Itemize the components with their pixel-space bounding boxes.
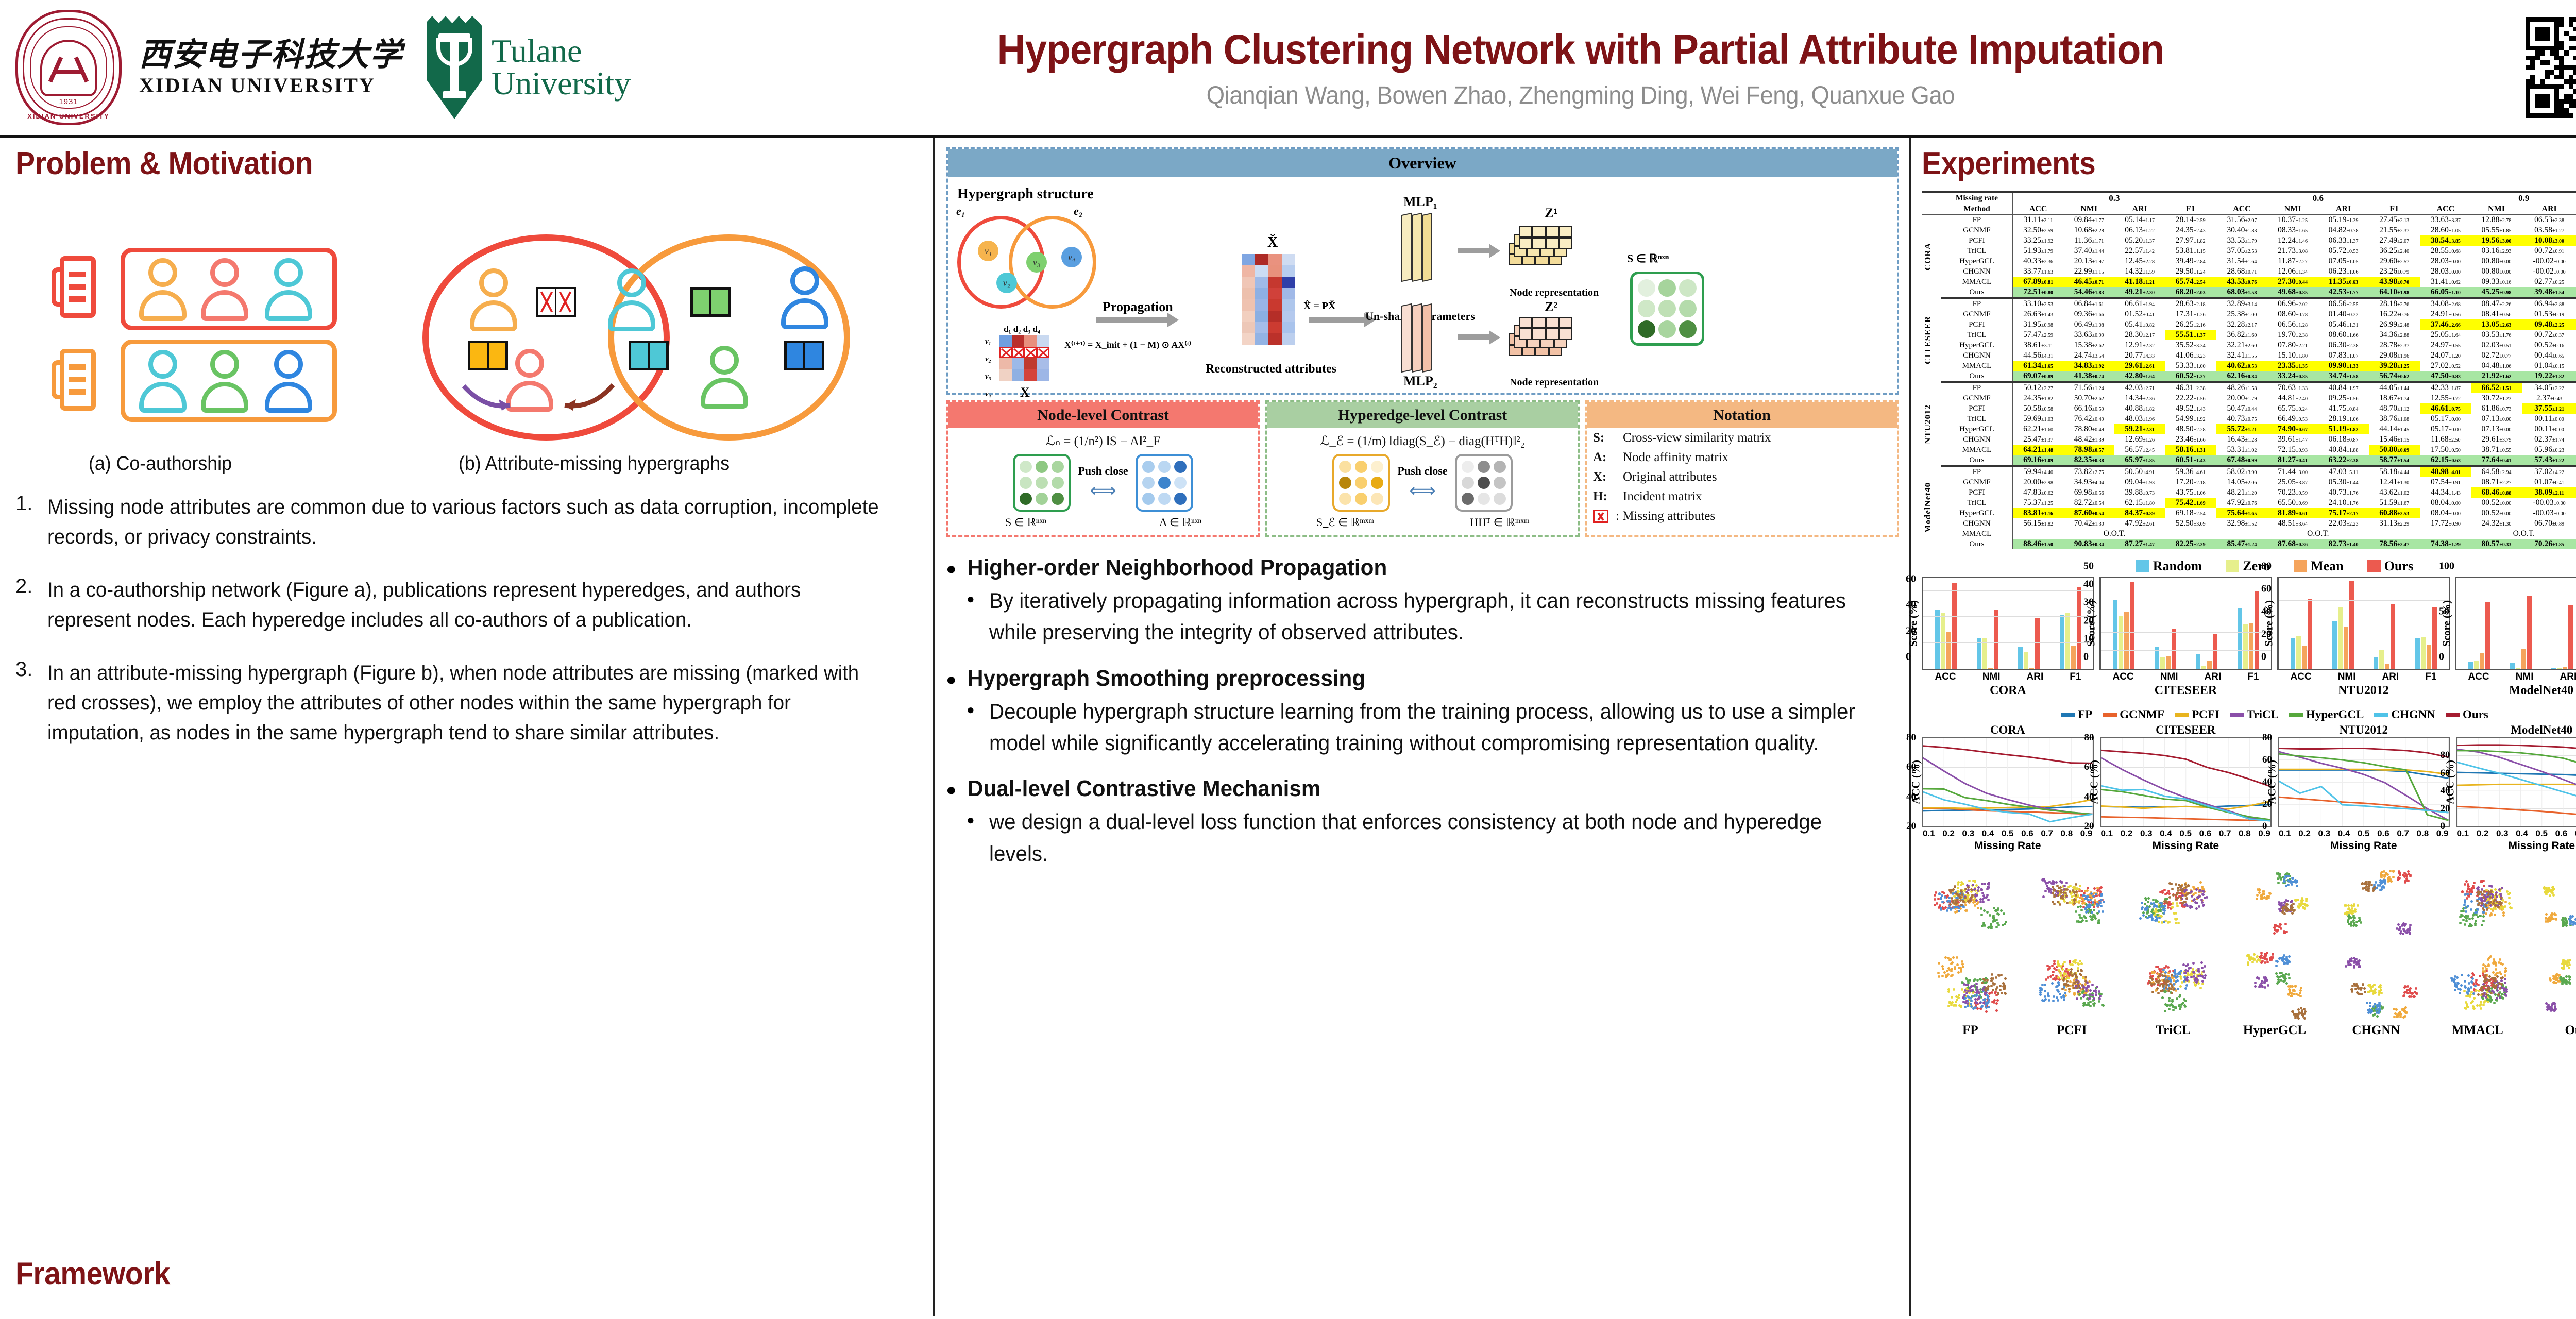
heatmap-cell — [1282, 288, 1295, 299]
tsne-point — [2144, 907, 2147, 910]
tsne-point — [2099, 995, 2102, 997]
metric-cell: 59.69±1.03 — [2012, 414, 2063, 424]
tsne-point — [2361, 993, 2363, 995]
motivation-item-text: Missing node attributes are common due t… — [47, 492, 880, 552]
tsne-point — [2396, 927, 2398, 930]
tsne-point — [1938, 975, 1940, 978]
tsne-point — [2277, 872, 2280, 875]
tsne-point — [2161, 996, 2164, 999]
metric-mean: 46.31 — [2176, 383, 2194, 392]
metric-mean: 81.89 — [2278, 509, 2296, 517]
tsne-point — [2059, 903, 2061, 906]
tsne-point — [2184, 894, 2187, 897]
tsne-point — [2299, 992, 2301, 994]
metric-std: ±2.54 — [2194, 511, 2206, 517]
metric-mean: 82.25 — [2176, 539, 2194, 548]
heatmap-cell — [1255, 265, 1268, 277]
tsne-point — [2198, 905, 2200, 908]
metric-std: ±3.37 — [2449, 218, 2461, 224]
metric-cell: 27.45±2.13 — [2369, 215, 2420, 226]
x-tick-label: 0.6 — [2199, 828, 2212, 839]
metric-std: ±0.52 — [2449, 364, 2461, 369]
overview-panel: Overview Hypergraph structure e₁ e₂ v₁ v… — [946, 147, 1899, 395]
tsne-point — [2545, 913, 2548, 916]
metric-cell: 60.88±2.53 — [2369, 508, 2420, 518]
metric-mean: 17.31 — [2176, 310, 2194, 318]
bar — [2516, 668, 2520, 669]
heatmap-cell — [1268, 299, 1282, 311]
tsne-point — [2465, 910, 2467, 913]
tulane-name-line1: Tulane — [492, 35, 631, 67]
heatmap-cell — [1242, 265, 1255, 277]
tsne-point — [2167, 921, 2170, 924]
metric-mean: 63.22 — [2329, 455, 2347, 464]
metric-std: ±2.71 — [2143, 386, 2155, 392]
person-icon — [469, 268, 518, 331]
metric-mean: 12.88 — [2482, 215, 2500, 224]
person-icon — [700, 346, 749, 409]
metric-cell: 08.04±0.00 — [2420, 498, 2471, 508]
tsne-point — [1996, 999, 1999, 1002]
metric-mean: 19.70 — [2278, 330, 2296, 339]
tsne-point — [2067, 977, 2070, 979]
tsne-point — [2499, 958, 2501, 961]
metric-std: ±1.83 — [2245, 228, 2257, 234]
metric-mean: 33.77 — [2023, 267, 2041, 276]
metric-std: ±1.43 — [2194, 407, 2206, 412]
tsne-point — [2467, 974, 2470, 977]
metric-std: ±0.56 — [2449, 312, 2461, 318]
matrix-cell — [1371, 461, 1383, 473]
z1-label: Z¹ — [1545, 206, 1557, 221]
tsne-point — [2141, 902, 2143, 904]
tsne-point — [2261, 960, 2264, 962]
metric-cell: 39.28±1.25 — [2369, 361, 2420, 371]
metric-cell: 25.05±1.64 — [2420, 330, 2471, 340]
metric-cell: 59.21±2.31 — [2114, 424, 2165, 434]
tsne-point — [2490, 992, 2493, 994]
heatmap-cell — [1268, 265, 1282, 277]
tsne-point — [2278, 980, 2280, 983]
matrix-cell — [1020, 461, 1032, 473]
metric-cell: 08.60±0.78 — [2267, 309, 2318, 319]
table-row: CHGNN44.56±4.3124.74±3.5420.77±4.3341.06… — [1922, 350, 2576, 361]
metric-std: ±3.79 — [2499, 437, 2511, 443]
metric-std: ±2.11 — [2552, 491, 2564, 496]
tsne-point — [2202, 904, 2205, 907]
tsne-point — [2472, 974, 2475, 976]
table-row: Ours69.07±0.8941.38±0.7442.80±1.6460.52±… — [1922, 371, 2576, 382]
tsne-point — [1961, 988, 1963, 991]
motivation-item-number: 2. — [15, 575, 47, 635]
metric-mean: 28.30 — [2125, 330, 2143, 339]
metric-mean: 48.42 — [2074, 435, 2092, 444]
metric-std: ±0.41 — [2552, 480, 2564, 486]
tsne-point — [1987, 988, 1989, 990]
metric-mean: 58.02 — [2227, 467, 2245, 476]
tsne-point — [2381, 871, 2383, 873]
metric-std: ±0.99 — [2245, 458, 2257, 464]
metric-cell: 48.98±4.01 — [2420, 466, 2471, 478]
metric-std: ±3.14 — [2245, 302, 2257, 308]
tsne-point — [2086, 986, 2089, 989]
xidian-chinese-name: 西安电子科技大学 — [139, 38, 403, 71]
propagation-arrow-icon — [1096, 317, 1168, 323]
metric-cell: 45.25±0.98 — [2471, 287, 2521, 298]
tsne-point — [2079, 885, 2081, 887]
tsne-point — [2498, 982, 2501, 985]
z2-label: Z² — [1545, 299, 1557, 315]
tsne-point — [2500, 979, 2503, 982]
tsne-point — [2258, 891, 2261, 894]
tsne-point — [1946, 909, 1948, 912]
metric-mean: 08.41 — [2482, 310, 2500, 318]
metric-cell: 05.14±1.17 — [2114, 215, 2165, 226]
notation-list: S:Cross-view similarity matrixA:Node aff… — [1587, 428, 1897, 526]
tsne-point — [2472, 887, 2475, 889]
tsne-point — [2093, 906, 2095, 908]
tsne-point — [2076, 997, 2078, 1000]
metric-std: ±4.01 — [2449, 470, 2461, 476]
oot-cell: O.O.T. — [2012, 529, 2216, 539]
to-mlp-arrow-icon — [1309, 317, 1365, 323]
metric-mean: 49.21 — [2125, 288, 2143, 296]
contribution-detail-row: ●we design a dual-level loss function th… — [967, 806, 1899, 869]
metric-cell: -00.02±0.00 — [2522, 266, 2576, 277]
tsne-point — [2569, 915, 2572, 918]
page-title: Hypergraph Clustering Network with Parti… — [702, 26, 2460, 74]
tsne-point — [2464, 893, 2466, 896]
metric-std: ±0.84 — [2346, 407, 2358, 412]
tsne-point — [1948, 959, 1951, 961]
tsne-point — [1981, 883, 1984, 885]
metric-mean: 29.61 — [2482, 435, 2500, 444]
metric-mean: 20.00 — [2023, 478, 2041, 486]
attribute-card-green — [690, 287, 731, 317]
metric-cell: 09.48±2.25 — [2522, 319, 2576, 330]
metric-cell: 09.33±0.16 — [2471, 277, 2521, 287]
tsne-point — [2405, 877, 2408, 880]
tsne-point — [2380, 992, 2383, 994]
tsne-point — [2165, 965, 2167, 968]
legend-item: TriCL — [2230, 708, 2279, 721]
metric-std: ±1.44 — [2346, 480, 2358, 486]
legend-swatch — [2103, 713, 2117, 717]
tsne-point — [2350, 917, 2352, 919]
metric-mean: 09.25 — [2329, 394, 2347, 402]
original-attribute-matrix — [999, 335, 1049, 381]
tsne-point — [1967, 1002, 1969, 1005]
xidian-seal-arc-text: XIDIAN UNIVERSITY — [9, 112, 128, 120]
node-representation-label-1: Node representation — [1510, 287, 1599, 299]
metric-mean: 65.97 — [2125, 455, 2143, 464]
method-name-cell: CHGNN — [1941, 434, 2012, 445]
metric-mean: 38.71 — [2482, 445, 2500, 454]
heatmap-cell — [1282, 277, 1295, 288]
tsne-point — [2077, 963, 2080, 966]
metric-mean: 24.32 — [2482, 519, 2500, 528]
tsne-point — [1944, 956, 1947, 959]
metric-mean: 40.88 — [2125, 404, 2143, 413]
tsne-point — [2380, 989, 2382, 991]
tsne-point — [2293, 881, 2295, 883]
metric-std: ±0.78 — [2346, 228, 2358, 234]
tsne-point — [2462, 919, 2465, 921]
dataset-group-cell: NTU2012 — [1922, 382, 1941, 466]
metric-cell: 06.23±1.06 — [2318, 266, 2368, 277]
z1-node-representation — [1509, 226, 1586, 283]
metric-cell: 06.84±1.61 — [2063, 298, 2114, 310]
legend-swatch — [2175, 713, 2189, 717]
tsne-point — [2489, 914, 2492, 917]
metric-std: ±1.82 — [2041, 521, 2053, 527]
tsne-point — [2565, 975, 2568, 978]
metric-cell: 41.06±3.23 — [2165, 350, 2216, 361]
metric-cell: 24.97±0.55 — [2420, 340, 2471, 350]
column-problem-motivation: Problem & Motivation — [0, 138, 933, 1316]
metric-mean: 11.68 — [2431, 435, 2448, 444]
metric-mean: 24.74 — [2074, 351, 2092, 360]
metric-mean: 70.26 — [2534, 539, 2552, 548]
tsne-point — [1947, 973, 1950, 976]
tsne-point — [2158, 921, 2160, 923]
tsne-point — [1972, 985, 1975, 987]
metric-mean: 70.23 — [2278, 488, 2296, 497]
metric-cell: 29.61±2.61 — [2114, 361, 2165, 371]
tsne-point — [1970, 888, 1973, 891]
tsne-point — [2464, 907, 2466, 909]
y-axis-label: ACC (%) — [2265, 760, 2278, 804]
qr-code-icon[interactable] — [2526, 17, 2576, 118]
tsne-point — [2058, 984, 2060, 986]
tsne-point — [2283, 975, 2286, 977]
metric-cell: 82.72±0.54 — [2063, 498, 2114, 508]
metric-mean: 72.51 — [2023, 288, 2041, 296]
tsne-point — [2508, 902, 2511, 905]
metric-std: ±0.89 — [2041, 374, 2053, 380]
metric-cell: 02.03±0.51 — [2471, 340, 2521, 350]
tsne-point — [2168, 1008, 2171, 1010]
heatmap-cell — [1255, 322, 1268, 333]
tsne-point — [2077, 888, 2079, 890]
metric-mean: 38.54 — [2431, 236, 2449, 245]
tsne-point — [2477, 886, 2480, 889]
metric-std: ±1.21 — [2245, 427, 2257, 433]
metric-mean: 37.40 — [2074, 246, 2092, 255]
metric-cell: 06.70±0.89 — [2522, 518, 2576, 529]
metric-mean: 05.96 — [2534, 445, 2552, 454]
metric-mean: 65.50 — [2278, 498, 2296, 507]
legend-swatch — [2374, 713, 2388, 717]
metric-mean: 50.47 — [2227, 404, 2245, 413]
tsne-visualization: FPPCFITriCLHyperGCLCHGNNMMACLOurs — [1922, 864, 2576, 1038]
metric-mean: 00.11 — [2534, 414, 2552, 423]
metric-cell: 00.72±0.91 — [2522, 246, 2576, 256]
y-tick-label: 0 — [2261, 651, 2448, 663]
metric-mean: 31.56 — [2227, 215, 2245, 224]
tsne-method-labels: FPPCFITriCLHyperGCLCHGNNMMACLOurs — [1922, 1023, 2576, 1038]
metric-std: ±2.94 — [2499, 470, 2511, 476]
metric-cell: 06.56±2.55 — [2318, 298, 2368, 310]
metric-mean: 90.83 — [2074, 539, 2092, 548]
x-tick-label: F1 — [2247, 671, 2259, 683]
notation-row: S:Cross-view similarity matrix — [1587, 428, 1897, 448]
metric-std: ±1.31 — [2346, 323, 2358, 328]
tsne-point — [2057, 976, 2060, 979]
tsne-point — [2288, 961, 2291, 963]
metric-std: ±0.16 — [2552, 343, 2564, 349]
tsne-point — [1944, 906, 1947, 909]
tsne-point — [2163, 889, 2166, 891]
tsne-point — [2296, 885, 2298, 887]
tsne-point — [1951, 996, 1953, 999]
tsne-point — [1935, 891, 1937, 894]
metric-std: ±2.84 — [2194, 259, 2206, 265]
tsne-point — [2186, 976, 2189, 979]
metric-std: ±2.48 — [2397, 323, 2409, 328]
tsne-point — [2080, 962, 2083, 965]
heatmap-cell — [999, 347, 1012, 358]
metric-mean: 49.52 — [2176, 404, 2194, 413]
tsne-point — [1947, 990, 1950, 993]
metric-mean: 48.50 — [2176, 425, 2194, 433]
tsne-point — [1976, 1002, 1978, 1004]
metric-std: ±1.60 — [2245, 333, 2257, 339]
bar-chart: 050100Score (%)ACCNMIARIF1ModelNet40 — [2455, 577, 2576, 698]
tsne-point — [1953, 1004, 1955, 1007]
tsne-point — [2047, 995, 2050, 997]
notation-description: Cross-view similarity matrix — [1623, 431, 1771, 445]
chart-title: CITESEER — [2100, 723, 2272, 737]
tsne-point — [1960, 904, 1963, 906]
matrix-cell — [1158, 493, 1171, 505]
metric-mean: 82.73 — [2329, 539, 2347, 548]
metric-std: ±3.11 — [2041, 343, 2053, 349]
bar — [1988, 668, 1993, 669]
metric-mean: 32.50 — [2023, 226, 2041, 234]
metric-mean: 12.41 — [2379, 478, 2397, 486]
metric-cell: 53.81±1.15 — [2165, 246, 2216, 256]
matrix-cell — [1494, 493, 1506, 505]
tsne-point — [2073, 960, 2076, 962]
tsne-point — [1953, 988, 1955, 991]
tsne-point — [2102, 910, 2104, 913]
tsne-point — [2047, 976, 2049, 979]
metric-cell: 87.68±0.36 — [2267, 539, 2318, 549]
metric-mean: 75.42 — [2176, 498, 2194, 507]
metric-std: ±1.06 — [2499, 364, 2511, 369]
heatmap-cell — [1037, 358, 1049, 369]
tsne-point — [2465, 880, 2468, 883]
tsne-point — [1958, 967, 1960, 969]
tsne-point — [2181, 902, 2184, 904]
metric-std: ±0.85 — [2296, 374, 2308, 380]
tsne-point — [2180, 977, 2182, 980]
tsne-point — [2549, 979, 2552, 982]
similarity-cell — [1679, 320, 1697, 338]
tsne-point — [2141, 906, 2144, 909]
metric-mean: 78.98 — [2074, 445, 2092, 454]
line-chart: ModelNet40020406080ACC (%)0.10.20.30.40.… — [2456, 723, 2576, 852]
metric-mean: 17.20 — [2176, 478, 2194, 486]
tsne-point — [2191, 895, 2193, 898]
xidian-logo-block: 1931 XIDIAN UNIVERSITY 西安电子科技大学 XIDIAN U… — [0, 6, 403, 129]
table-row: TriCL75.37±1.2582.72±0.5462.15±1.8075.42… — [1922, 498, 2576, 508]
y-tick-label: 40 — [1906, 599, 2092, 611]
tsne-point — [2093, 997, 2095, 1000]
tsne-point — [2150, 914, 2153, 916]
tsne-point — [2367, 890, 2370, 892]
tsne-point — [2071, 974, 2074, 977]
metric-std: ±0.53 — [2346, 249, 2358, 255]
tsne-point — [2093, 909, 2095, 911]
tsne-point — [2167, 990, 2170, 992]
tsne-point — [2052, 974, 2054, 976]
tsne-point — [2066, 980, 2069, 983]
tsne-point — [2053, 894, 2056, 897]
y-tick-label: 40 — [2261, 606, 2448, 618]
attribute-card-yellow — [468, 341, 508, 370]
tsne-point — [2004, 977, 2007, 980]
metric-cell: 31.56±2.07 — [2216, 215, 2267, 226]
notation-title: Notation — [1587, 402, 1897, 428]
metric-mean: 37.55 — [2534, 404, 2552, 413]
tsne-point — [1976, 894, 1978, 897]
tsne-point — [2563, 961, 2566, 963]
metric-cell: 12.88±2.78 — [2471, 215, 2521, 226]
tsne-point — [2482, 1004, 2485, 1006]
metric-mean: 09.36 — [2074, 310, 2092, 318]
metric-cell: 42.03±2.71 — [2114, 382, 2165, 394]
metric-std: ±2.18 — [2194, 480, 2206, 486]
tsne-point — [2459, 988, 2462, 991]
tsne-point — [2202, 970, 2205, 973]
y-tick-label: 60 — [1906, 573, 2092, 585]
metric-std: ±2.07 — [2397, 239, 2409, 244]
metric-cell: 08.41±0.56 — [2471, 309, 2521, 319]
gridline — [2279, 578, 2449, 578]
tsne-point — [2051, 965, 2054, 967]
metric-cell: 70.63±1.33 — [2267, 382, 2318, 394]
tsne-point — [2161, 890, 2164, 892]
metric-std: ±0.00 — [2499, 427, 2511, 433]
heatmap-cell — [1037, 335, 1049, 347]
line-chart-legend: FPGCNMFPCFITriCLHyperGCLCHGNNOurs — [1922, 708, 2576, 721]
tsne-point — [2489, 904, 2492, 907]
motivation-item: 1.Missing node attributes are common due… — [15, 492, 915, 552]
tsne-point — [2060, 881, 2063, 884]
metric-cell: 70.23±0.59 — [2267, 487, 2318, 498]
metric-cell: 22.99±1.15 — [2063, 266, 2114, 277]
metric-mean: 28.78 — [2379, 341, 2397, 349]
tsne-point — [2067, 984, 2070, 987]
tsne-point — [2483, 890, 2485, 893]
metric-mean: 05.14 — [2125, 215, 2143, 224]
metric-std: ±0.88 — [2499, 491, 2511, 496]
tsne-point — [2571, 915, 2574, 918]
tsne-point — [2163, 921, 2165, 923]
metric-mean: 32.89 — [2227, 299, 2245, 308]
tsne-point — [1957, 893, 1959, 896]
metric-cell: 33.24±0.85 — [2267, 371, 2318, 382]
tsne-point — [2084, 980, 2087, 983]
metric-cell: 42.80±1.64 — [2114, 371, 2165, 382]
metric-std: ±0.91 — [2449, 480, 2461, 486]
table-row: NTU2012FP50.12±2.2771.56±1.2442.03±2.714… — [1922, 382, 2576, 394]
tsne-point — [2166, 898, 2168, 900]
metric-std: ±2.88 — [2552, 302, 2564, 308]
bar-plot-area: 0204060Score (%) — [1922, 577, 2094, 670]
